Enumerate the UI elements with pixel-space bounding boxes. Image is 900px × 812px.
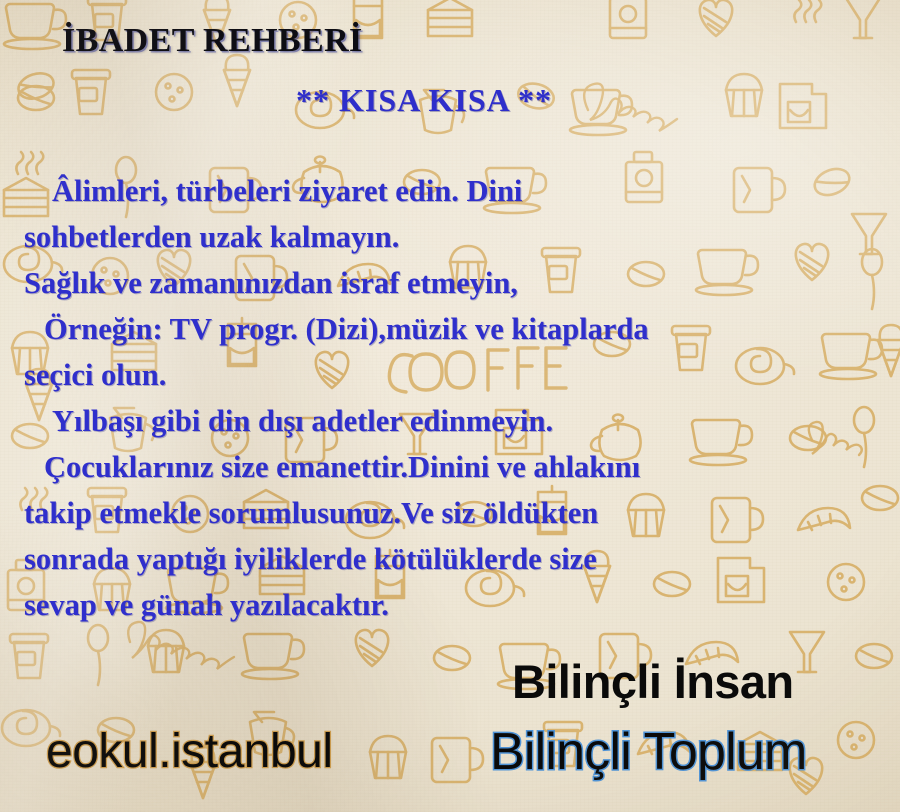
advice-line: sonrada yaptığı iyiliklerde kötülüklerde… [0,536,900,582]
advice-line: Örneğin: TV progr. (Dizi),müzik ve kitap… [0,306,900,352]
advice-line: Çocuklarınız size emanettir.Dinini ve ah… [0,444,900,490]
advice-line: takip etmekle sorumlusunuz.Ve siz öldükt… [0,490,900,536]
poster-text-layer: İBADET REHBERİ ** KISA KISA ** Âlimleri,… [0,0,900,812]
advice-line: Sağlık ve zamanınızdan israf etmeyin, [0,260,900,306]
slogan-line-1: Bilinçli İnsan [512,654,794,709]
advice-line: sohbetlerden uzak kalmayın. [0,214,900,260]
poster-canvas: İBADET REHBERİ ** KISA KISA ** Âlimleri,… [0,0,900,812]
advice-line: seçici olun. [0,352,900,398]
advice-line: Âlimleri, türbeleri ziyaret edin. Dini [0,168,900,214]
slogan-line-2: Bilinçli Toplum [490,722,807,782]
page-title: İBADET REHBERİ [62,22,363,60]
page-subtitle: ** KISA KISA ** [296,82,552,119]
advice-line: sevap ve günah yazılacaktır. [0,582,900,628]
advice-text-block: Âlimleri, türbeleri ziyaret edin. Dini s… [0,168,900,628]
advice-line: Yılbaşı gibi din dışı adetler edinmeyin. [0,398,900,444]
site-watermark: eokul.istanbul [46,724,333,779]
